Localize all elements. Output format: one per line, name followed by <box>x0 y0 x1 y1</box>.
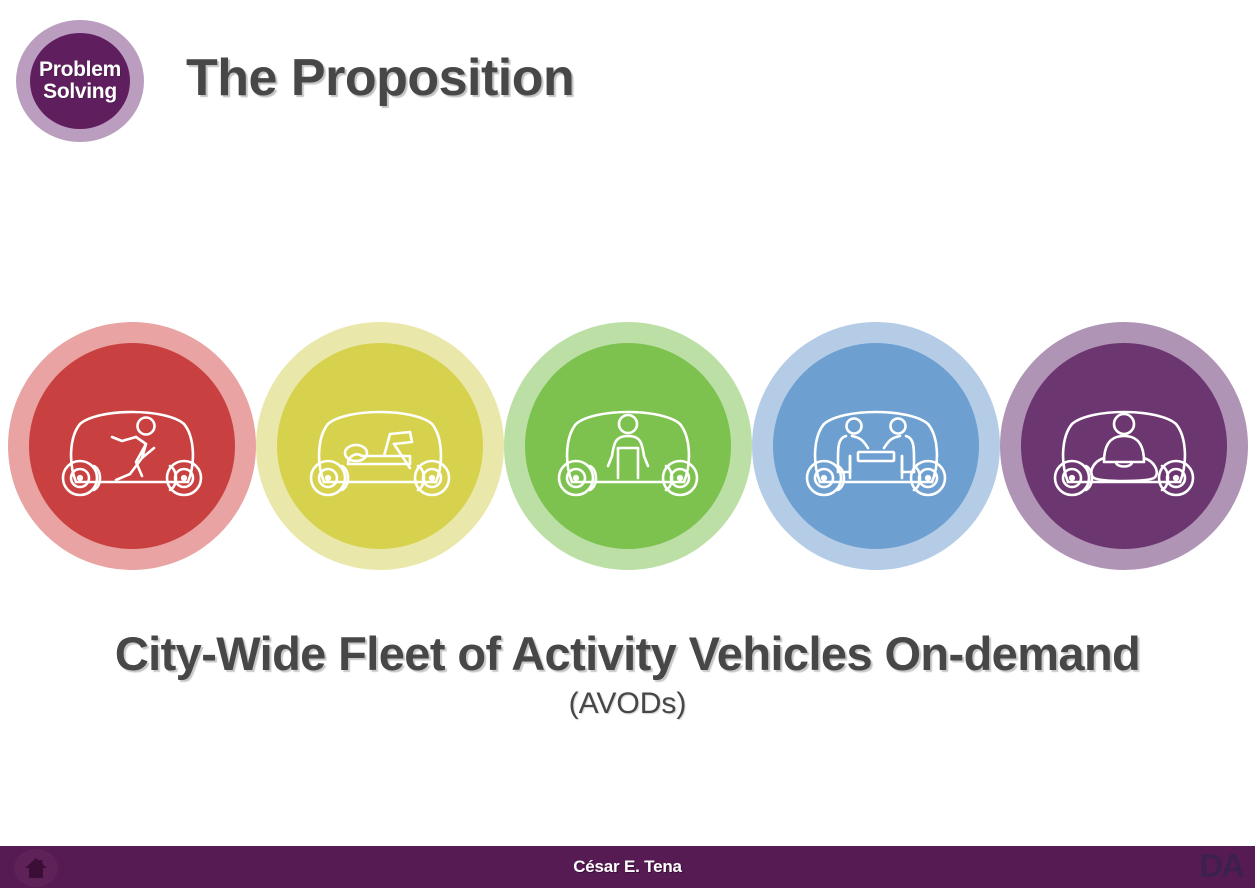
footer-author: César E. Tena <box>573 857 682 877</box>
vehicle-standing-person-icon <box>546 386 710 506</box>
activity-circle-running[interactable] <box>8 322 256 570</box>
activity-circle-meeting[interactable] <box>752 322 1000 570</box>
activity-circle-seated[interactable] <box>1000 322 1248 570</box>
badge-line-1: Problem <box>39 59 121 81</box>
chapter-badge-inner: Problem Solving <box>30 33 130 129</box>
footer-bar: César E. Tena DA <box>0 846 1255 888</box>
page-title: The Proposition <box>186 48 574 108</box>
badge-line-2: Solving <box>43 81 117 103</box>
activity-circle-reclining[interactable] <box>256 322 504 570</box>
slide-header: Problem Solving The Proposition <box>0 0 1255 170</box>
chapter-badge[interactable]: Problem Solving <box>16 20 144 142</box>
headline-block: City-Wide Fleet of Activity Vehicles On-… <box>0 628 1255 721</box>
home-button[interactable] <box>14 849 58 887</box>
headline-sub: (AVODs) <box>0 687 1255 721</box>
vehicle-reclining-person-icon <box>298 386 462 506</box>
home-icon <box>23 856 49 880</box>
headline-main: City-Wide Fleet of Activity Vehicles On-… <box>0 628 1255 681</box>
vehicle-seated-person-icon <box>1042 386 1206 506</box>
activity-circle-standing[interactable] <box>504 322 752 570</box>
activity-vehicle-circles <box>0 322 1255 570</box>
vehicle-meeting-people-icon <box>794 386 958 506</box>
brand-logo: DA <box>1199 847 1243 885</box>
vehicle-running-person-icon <box>50 386 214 506</box>
